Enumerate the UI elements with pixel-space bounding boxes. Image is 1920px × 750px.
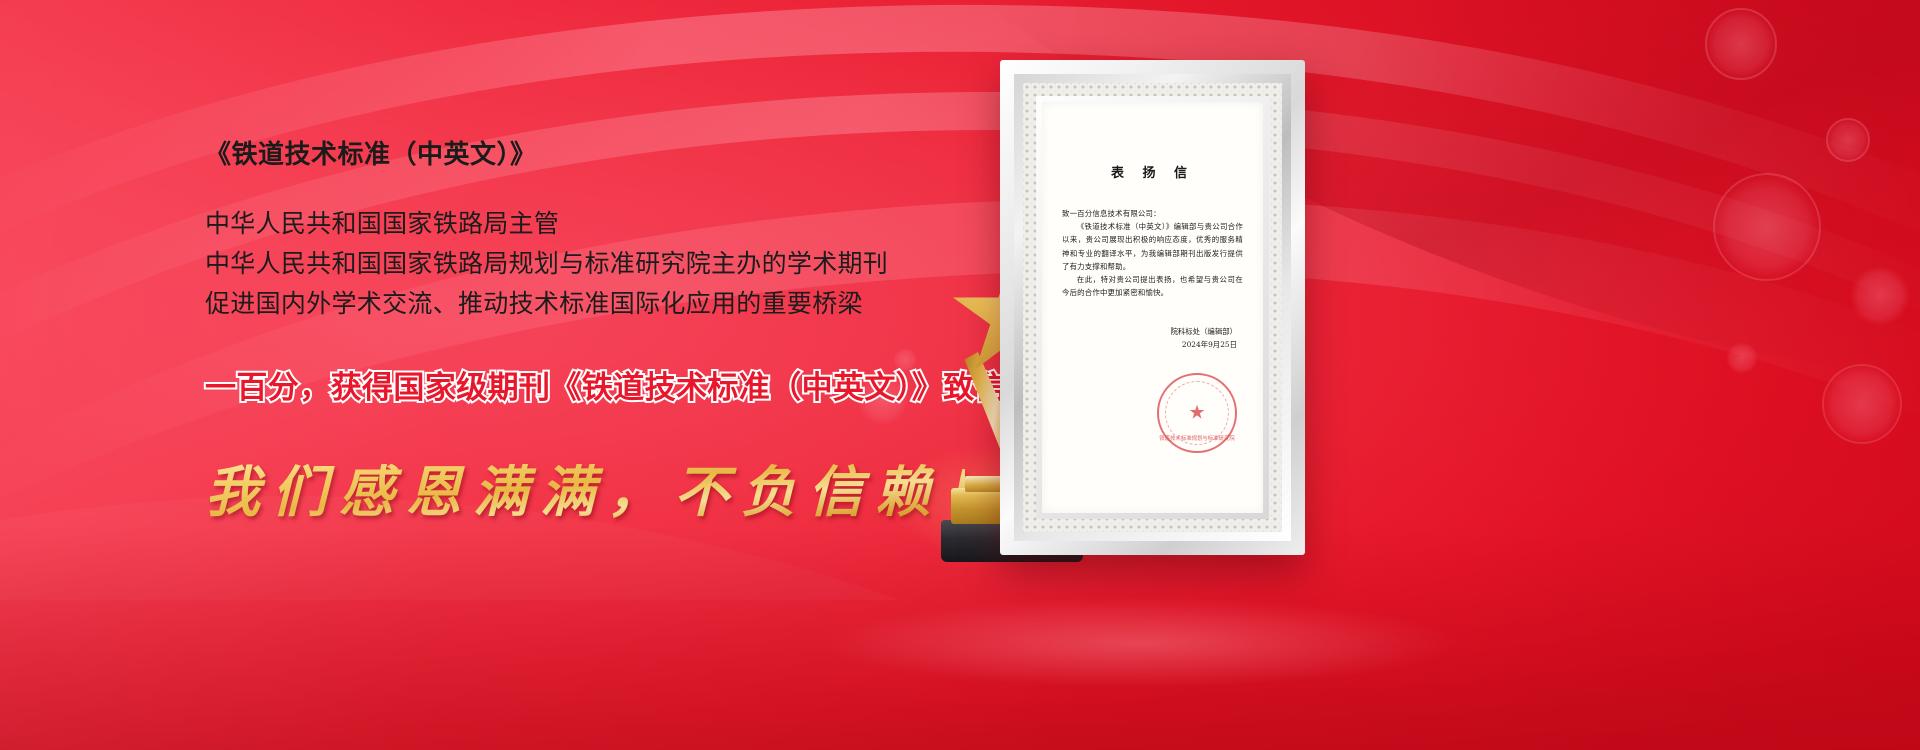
signature-date: 2024年9月25日 — [1062, 338, 1237, 351]
certificate-body-1: 《铁道技术标准（中英文）》编辑部与贵公司合作以来，贵公司展现出积极的响应态度，优… — [1062, 220, 1243, 273]
certificate-seal: ★ 铁道技术标准规划与标准研究院 — [1157, 373, 1237, 453]
star-icon: ★ — [1188, 404, 1205, 423]
copy-block: 《铁道技术标准（中英文）》 中华人民共和国国家铁路局主管 中华人民共和国国家铁路… — [205, 140, 965, 527]
journal-title: 《铁道技术标准（中英文）》 — [205, 140, 965, 171]
certificate-frame: 表 扬 信 致一百分信息技术有限公司： 《铁道技术标准（中英文）》编辑部与贵公司… — [1000, 60, 1305, 555]
calligraphy-slogan: 我们感恩满满，不负信赖！ — [205, 447, 965, 527]
floor-glow — [820, 598, 1460, 688]
banner-stage: 《铁道技术标准（中英文）》 中华人民共和国国家铁路局主管 中华人民共和国国家铁路… — [0, 0, 1920, 750]
body-lines: 中华人民共和国国家铁路局主管 中华人民共和国国家铁路局规划与标准研究院主办的学术… — [205, 204, 965, 324]
certificate-signature: 院科标处（编辑部） 2024年9月25日 — [1062, 325, 1243, 351]
body-line-3: 促进国内外学术交流、推动技术标准国际化应用的重要桥梁 — [205, 284, 965, 324]
certificate-body-2: 在此，特对贵公司提出表扬，也希望与贵公司在今后的合作中更加紧密和愉快。 — [1062, 273, 1243, 299]
signature-org: 院科标处（编辑部） — [1062, 325, 1237, 338]
body-line-2: 中华人民共和国国家铁路局规划与标准研究院主办的学术期刊 — [205, 244, 965, 284]
body-line-1: 中华人民共和国国家铁路局主管 — [205, 204, 965, 244]
headline: 一百分，获得国家级期刊《铁道技术标准（中英文）》致信肯定! — [205, 362, 965, 407]
certificate-heading: 表 扬 信 — [1062, 162, 1243, 181]
certificate-paper: 表 扬 信 致一百分信息技术有限公司： 《铁道技术标准（中英文）》编辑部与贵公司… — [1042, 102, 1263, 513]
seal-label: 铁道技术标准规划与标准研究院 — [1159, 434, 1234, 442]
certificate-salutation: 致一百分信息技术有限公司： — [1062, 207, 1243, 220]
